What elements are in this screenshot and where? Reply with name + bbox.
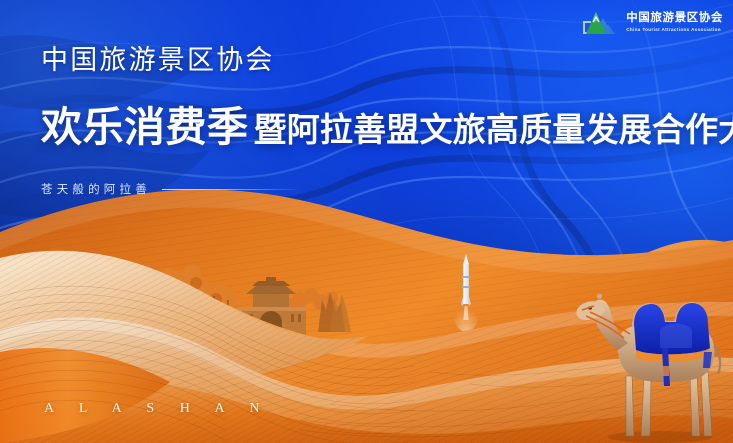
logo-chinese-name: 中国旅游景区协会 [626,13,723,25]
alashan-wordmark: A L A S H A N [44,401,271,417]
poster-copy-block: 中国旅游景区协会 欢乐消费季 暨阿拉善盟文旅高质量发展合作大会 苍天般的阿拉善 [41,38,681,197]
mountain-peak-logo-icon [581,8,619,38]
tagline-text: 苍天般的阿拉善 [41,181,151,197]
logo-text-block: 中国旅游景区协会 China Tourist Attractions Assoc… [626,13,723,32]
headline-rest: 暨阿拉善盟文旅高质量发展合作大会 [254,103,733,151]
event-poster: 中国旅游景区协会 China Tourist Attractions Assoc… [0,0,733,443]
tagline-row: 苍天般的阿拉善 [41,181,681,197]
headline-main: 欢乐消费季 [41,93,249,153]
event-headline: 欢乐消费季 暨阿拉善盟文旅高质量发展合作大会 [41,93,681,153]
association-logo[interactable]: 中国旅游景区协会 China Tourist Attractions Assoc… [581,8,723,38]
logo-english-name: China Tourist Attractions Association [626,28,723,33]
tagline-rule [162,189,300,190]
association-title: 中国旅游景区协会 [41,38,681,77]
